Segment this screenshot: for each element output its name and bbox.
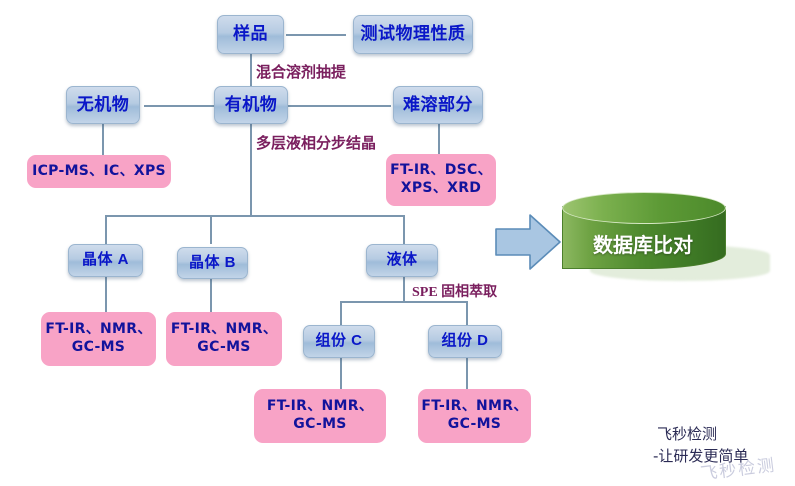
methods-crystal-a-line1: FT-IR、NMR、: [45, 321, 151, 339]
node-physical-test[interactable]: 测试物理性质: [353, 15, 473, 54]
methods-crystal-a[interactable]: FT-IR、NMR、 GC-MS: [41, 312, 156, 366]
methods-crystal-a-line2: GC-MS: [72, 339, 125, 357]
methods-fraction-c-line2: GC-MS: [293, 416, 346, 434]
methods-fraction-d-line1: FT-IR、NMR、: [421, 398, 527, 416]
node-fraction-d[interactable]: 组份 D: [428, 325, 502, 358]
connector-crystal-a-to-methods: [105, 276, 107, 312]
node-liquid-label: 液体: [386, 252, 417, 269]
node-organic[interactable]: 有机物: [214, 86, 288, 124]
node-insoluble[interactable]: 难溶部分: [393, 86, 483, 124]
methods-insoluble[interactable]: FT-IR、DSC、 XPS、XRD: [386, 154, 496, 206]
edge-label-spe: SPE 固相萃取: [412, 281, 497, 301]
connector-sample-to-physical-test: [286, 34, 346, 36]
flowchart-canvas: 样品 测试物理性质 无机物 有机物 难溶部分 晶体 A 晶体 B 液体 组份 C…: [0, 0, 795, 486]
connector-fraction-c-to-methods: [340, 357, 342, 390]
database-label: 数据库比对: [562, 226, 724, 260]
node-crystal-a[interactable]: 晶体 A: [68, 244, 143, 277]
connector-bus-to-crystal-a: [105, 215, 107, 244]
connector-inorganic-to-organic: [144, 105, 214, 107]
methods-crystal-b-line2: GC-MS: [197, 339, 250, 357]
methods-insoluble-line2: XPS、XRD: [401, 180, 481, 198]
connector-bus-to-crystal-b: [210, 215, 212, 244]
methods-fraction-c-line1: FT-IR、NMR、: [267, 398, 373, 416]
connector-inorganic-to-methods: [102, 123, 104, 156]
node-organic-label: 有机物: [225, 96, 278, 115]
node-crystal-b-label: 晶体 B: [189, 255, 236, 272]
connector-fraction-d-to-methods: [466, 357, 468, 390]
connector-bus-to-fraction-d: [466, 301, 468, 326]
node-fraction-c[interactable]: 组份 C: [303, 325, 375, 358]
node-sample-label: 样品: [233, 25, 268, 44]
methods-inorganic[interactable]: ICP-MS、IC、XPS: [27, 155, 171, 188]
edge-label-extraction: 混合溶剂抽提: [256, 61, 346, 82]
methods-inorganic-label: ICP-MS、IC、XPS: [32, 163, 166, 181]
methods-fraction-d-line2: GC-MS: [448, 416, 501, 434]
node-physical-test-label: 测试物理性质: [361, 25, 466, 44]
connector-organic-bus: [105, 215, 405, 217]
footer-line2: -让研发更简单: [653, 446, 748, 468]
methods-insoluble-line1: FT-IR、DSC、: [390, 162, 492, 180]
node-sample[interactable]: 样品: [217, 15, 284, 54]
connector-bus-to-fraction-c: [340, 301, 342, 326]
node-fraction-c-label: 组份 C: [315, 333, 362, 350]
connector-organic-to-insoluble: [286, 105, 391, 107]
flow-arrow-to-database: [494, 213, 562, 271]
node-liquid[interactable]: 液体: [366, 244, 438, 277]
node-fraction-d-label: 组份 D: [441, 333, 488, 350]
connector-crystal-b-to-methods: [210, 276, 212, 312]
database-cylinder-top: [562, 192, 726, 224]
methods-crystal-b-line1: FT-IR、NMR、: [171, 321, 277, 339]
methods-crystal-b[interactable]: FT-IR、NMR、 GC-MS: [166, 312, 282, 366]
methods-fraction-c[interactable]: FT-IR、NMR、 GC-MS: [254, 389, 386, 443]
node-crystal-b[interactable]: 晶体 B: [177, 247, 248, 279]
node-inorganic-label: 无机物: [77, 96, 130, 115]
connector-liquid-down: [403, 276, 405, 302]
footer-line1: 飞秒检测: [657, 424, 717, 446]
connector-organic-down: [250, 123, 252, 216]
connector-liquid-bus: [340, 301, 468, 303]
node-inorganic[interactable]: 无机物: [66, 86, 140, 124]
node-insoluble-label: 难溶部分: [403, 96, 473, 115]
connector-insoluble-to-methods: [438, 123, 440, 155]
methods-fraction-d[interactable]: FT-IR、NMR、 GC-MS: [418, 389, 531, 443]
connector-bus-to-liquid: [403, 215, 405, 244]
node-crystal-a-label: 晶体 A: [82, 252, 129, 269]
edge-label-crystallization: 多层液相分步结晶: [256, 132, 376, 153]
